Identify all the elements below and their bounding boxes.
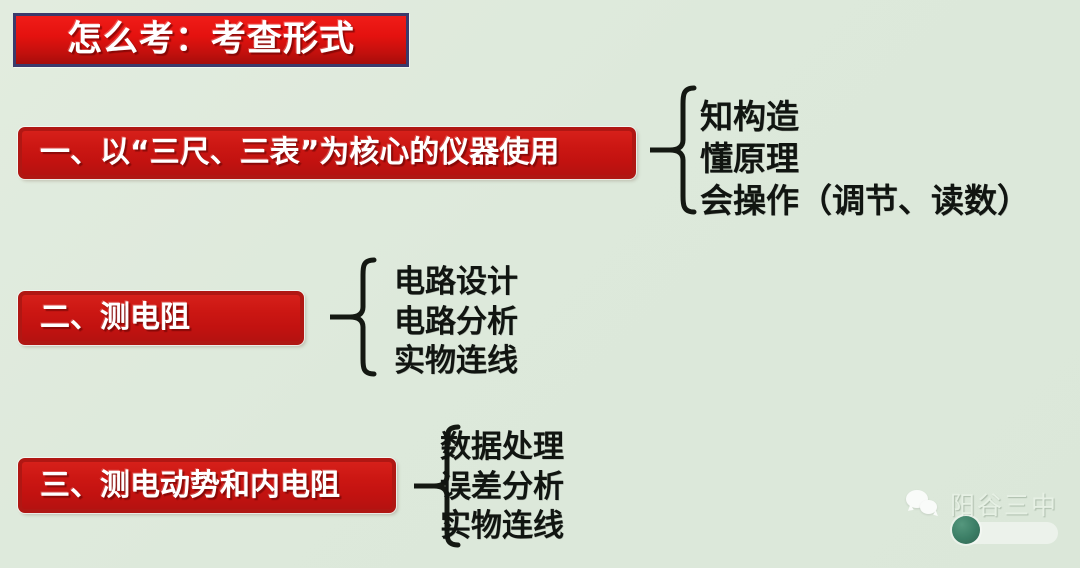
row-3-item-3: 实物连线 [440,507,564,547]
row-2-item-2: 电路分析 [394,303,518,343]
row-3-items: 数据处理 误差分析 实物连线 [440,428,564,547]
row-3-item-2: 误差分析 [440,468,564,508]
page-title: 怎么考：考查形式 [16,23,406,58]
row-2-item-3: 实物连线 [394,342,518,382]
row-2-items: 电路设计 电路分析 实物连线 [394,263,518,382]
slide-title-box: 怎么考：考查形式 [13,13,409,67]
row-3-label: 三、测电动势和内电阻 [22,471,392,501]
player-play-button[interactable] [952,516,980,544]
row-1-item-3: 会操作（调节、读数） [700,180,1030,222]
row-1-label-box[interactable]: 一、以“三尺、三表”为核心的仪器使用 [18,127,636,179]
row-1-item-1: 知构造 [700,96,1030,138]
row-2-label: 二、测电阻 [22,303,300,333]
row-2-brace-icon [330,256,382,378]
row-3-item-1: 数据处理 [440,428,564,468]
row-2-label-box[interactable]: 二、测电阻 [18,291,304,345]
watermark: 阳谷三中 [906,486,1058,522]
slide-canvas: 怎么考：考查形式 一、以“三尺、三表”为核心的仪器使用 知构造 懂原理 会操作（… [0,0,1080,568]
row-1-items: 知构造 懂原理 会操作（调节、读数） [700,96,1030,223]
row-1-brace-icon [650,84,702,216]
row-1-item-2: 懂原理 [700,138,1030,180]
row-1-label: 一、以“三尺、三表”为核心的仪器使用 [22,138,632,168]
wechat-icon [906,490,940,518]
row-2-item-1: 电路设计 [394,263,518,303]
row-3-label-box[interactable]: 三、测电动势和内电阻 [18,458,396,513]
